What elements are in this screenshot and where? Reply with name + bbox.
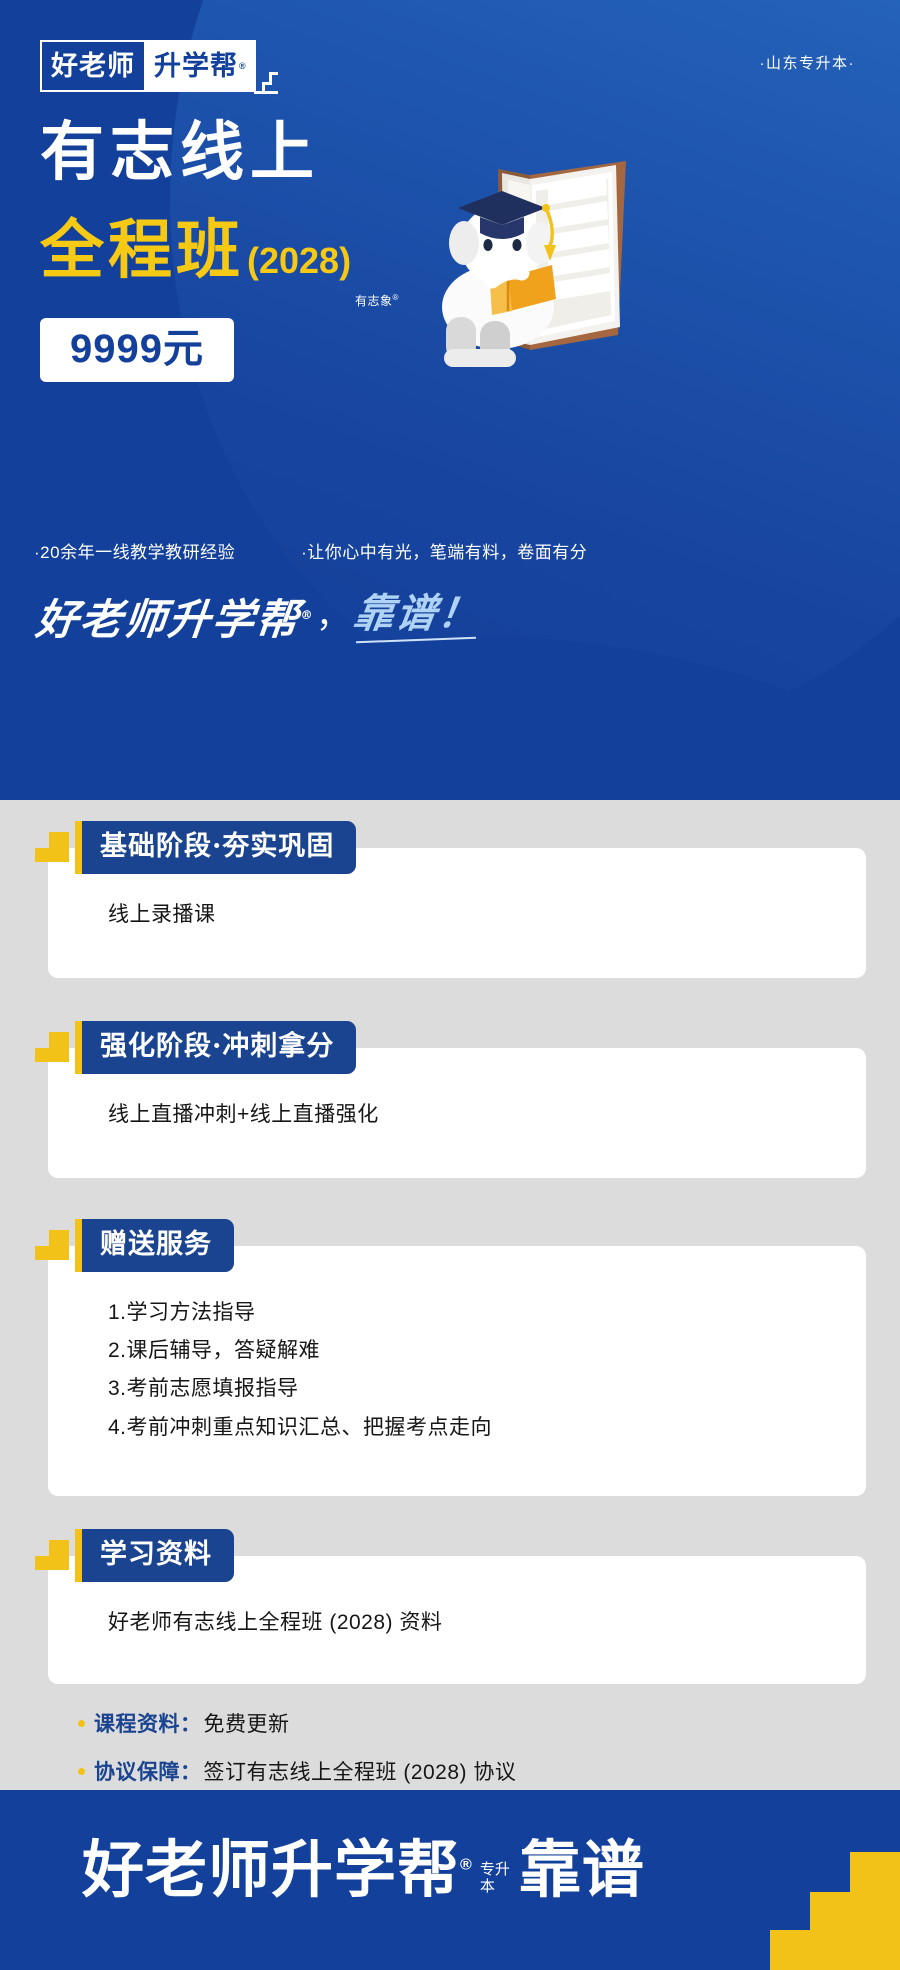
card-body: 1.学习方法指导 2.课后辅导，答疑解难 3.考前志愿填报指导 4.考前冲刺重点… [48, 1246, 866, 1473]
footer-vertical-label: 专升 本 [480, 1862, 510, 1896]
note-item: 协议保障： 签订有志线上全程班 (2028) 协议 [78, 1756, 878, 1786]
calligraphy-comma: ， [316, 588, 350, 637]
note-value: 免费更新 [204, 1708, 290, 1738]
card-line: 线上直播冲刺+线上直播强化 [108, 1096, 866, 1134]
calligraphy-registered-mark: ® [300, 608, 315, 622]
card-tab-label: 赠送服务 [75, 1219, 234, 1272]
staircase-marker-icon [35, 1230, 69, 1260]
bullet-dot-icon [78, 1720, 85, 1727]
note-item: 课程资料： 免费更新 [78, 1708, 878, 1738]
footer-keyphrase: 靠谱 [519, 1840, 645, 1902]
footer-staircase-icon [770, 1852, 900, 1970]
tagline-promise: ·让你心中有光，笔端有料，卷面有分 [301, 538, 587, 563]
card-intensive-stage: 强化阶段·冲刺拿分 线上直播冲刺+线上直播强化 [48, 1048, 866, 1178]
brand-logo[interactable]: 好老师 升学帮® [40, 40, 256, 92]
logo-registered-mark: ® [239, 62, 247, 71]
note-key: 协议保障： [94, 1756, 202, 1786]
calligraphy-brand: 好老师升学帮® [34, 599, 316, 641]
card-line: 2.课后辅导，答疑解难 [108, 1332, 866, 1370]
tagline-row: ·20余年一线教学教研经验 ·让你心中有光，笔端有料，卷面有分 [34, 538, 587, 563]
calligraphy-keyword-wrap: 靠谱！ [354, 594, 480, 641]
page-title-main: 有志线上 [40, 120, 320, 184]
footer-registered-mark: ® [460, 1856, 473, 1873]
mascot-registered-mark: ® [393, 293, 399, 302]
card-tab-wrap: 强化阶段·冲刺拿分 [35, 1021, 356, 1074]
note-key: 课程资料： [94, 1708, 202, 1738]
card-tab-label: 学习资料 [75, 1529, 234, 1582]
card-line: 4.考前冲刺重点知识汇总、把握考点走向 [108, 1409, 866, 1447]
card-tab-label: 基础阶段·夯实巩固 [75, 821, 356, 874]
mascot-label: 有志象® [355, 292, 399, 309]
card-line: 3.考前志愿填报指导 [108, 1370, 866, 1408]
page-title-year: (2028) [247, 243, 351, 279]
page-title-sub-wrap: 全程班 (2028) [40, 218, 351, 282]
footer-brand-block: 好老师升学帮® 专升 本 靠谱 [82, 1840, 645, 1902]
staircase-marker-icon [35, 1540, 69, 1570]
logo-right-text: 升学帮® [146, 40, 256, 92]
page-title-sub: 全程班 [40, 218, 244, 282]
staircase-marker-icon [35, 1032, 69, 1062]
hero-banner: 有志象® 好老师 升学帮® ·山东专升本· 有志线上 全程班 (2028) 99… [0, 0, 900, 800]
card-line: 线上录播课 [108, 896, 866, 934]
region-tag: ·山东专升本· [760, 52, 856, 73]
card-tab-wrap: 赠送服务 [35, 1219, 234, 1272]
note-value: 签订有志线上全程班 (2028) 协议 [204, 1756, 517, 1786]
footer-vertical-top: 专升 [480, 1862, 510, 1879]
staircase-marker-icon [35, 832, 69, 862]
card-tab-wrap: 基础阶段·夯实巩固 [35, 821, 356, 874]
staircase-icon [254, 68, 278, 94]
card-study-materials: 学习资料 好老师有志线上全程班 (2028) 资料 [48, 1556, 866, 1684]
card-line: 1.学习方法指导 [108, 1294, 866, 1332]
content-section: 基础阶段·夯实巩固 线上录播课 强化阶段·冲刺拿分 线上直播冲刺+线上直播强化 … [0, 800, 900, 1790]
footer-brand: 好老师升学帮® [82, 1840, 473, 1902]
card-basic-stage: 基础阶段·夯实巩固 线上录播课 [48, 848, 866, 978]
footer-vertical-bottom: 本 [480, 1879, 510, 1896]
bullet-dot-icon [78, 1768, 85, 1775]
card-tab-wrap: 学习资料 [35, 1529, 234, 1582]
card-tab-label: 强化阶段·冲刺拿分 [75, 1021, 356, 1074]
footer-banner: 好老师升学帮® 专升 本 靠谱 [0, 1790, 900, 1970]
card-line: 好老师有志线上全程班 (2028) 资料 [108, 1604, 866, 1642]
price-badge: 9999元 [40, 318, 234, 382]
calligraphy-keyword: 靠谱！ [351, 594, 483, 634]
mascot-elephant-illustration [380, 95, 680, 395]
card-bonus-services: 赠送服务 1.学习方法指导 2.课后辅导，答疑解难 3.考前志愿填报指导 4.考… [48, 1246, 866, 1496]
logo-left-text: 好老师 [40, 40, 146, 92]
calligraphy-slogan: 好老师升学帮® ， 靠谱！ [36, 588, 480, 641]
tagline-experience: ·20余年一线教学教研经验 [34, 538, 235, 563]
